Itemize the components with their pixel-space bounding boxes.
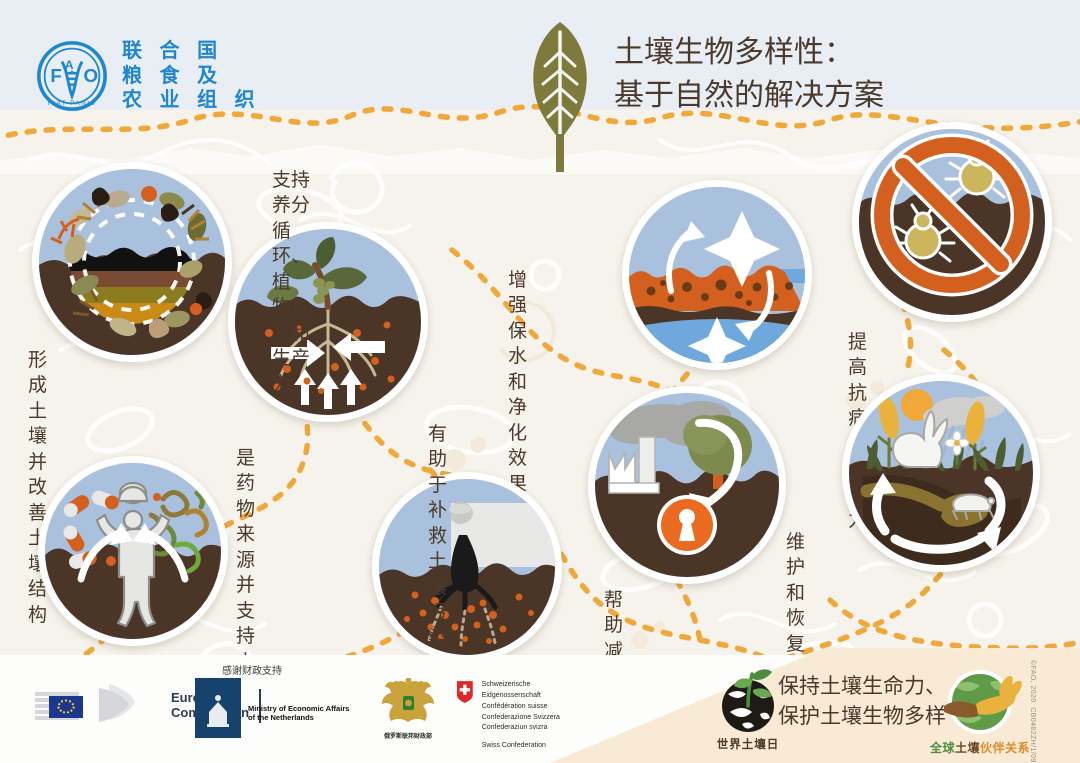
ch-sub: Swiss Confederation — [482, 741, 590, 752]
page-title: 土壤生物多样性： 基于自然的解决方案 — [614, 32, 1034, 117]
medicine-human-health-icon — [45, 463, 221, 639]
gsp-handshake-globe-icon — [936, 664, 1024, 740]
fao-logo: F O A FIAT PANIS 联 合 国 粮 食 及 农 业 组 织 — [36, 34, 266, 118]
donor-russia-ministry-of-finance: 俄罗斯联邦财政部 — [368, 678, 448, 740]
seedling-roots-icon — [235, 229, 421, 415]
svg-text:F: F — [50, 65, 61, 86]
ch-line-4: Confederaziun svizra — [482, 723, 590, 734]
gsp-part-2: 土壤 — [955, 741, 980, 755]
fao-wheat-logo-icon: F O A FIAT PANIS — [36, 40, 108, 112]
ch-line-1: Schweizerische Eidgenossenschaft — [482, 680, 590, 702]
ch-line-2: Confédération suisse — [482, 702, 590, 713]
soil-profile-layers-icon — [39, 169, 225, 355]
global-soil-partnership-logo: 全球土壤伙伴关系 — [934, 664, 1026, 758]
caption-pollution-remediation: 有助于补救 土壤污染 — [428, 422, 447, 651]
russia-double-eagle-icon — [378, 678, 438, 726]
gsp-label: 全球土壤伙伴关系 — [928, 739, 1032, 756]
pollution-remediation-icon — [379, 479, 555, 655]
infographic-poster: F O A FIAT PANIS 联 合 国 粮 食 及 农 业 组 织 土壤生… — [0, 0, 1080, 763]
svg-text:FIAT PANIS: FIAT PANIS — [48, 100, 97, 107]
donor-swiss-confederation: Schweizerische Eidgenossenschaft Confédé… — [454, 680, 590, 752]
campaign-slogan: 保持土壤生命力、 保护土壤生物多样 — [778, 672, 946, 732]
ecosystem-cycle-icon — [849, 381, 1033, 565]
fao-org-name: 联 合 国 粮 食 及 农 业 组 织 — [122, 40, 261, 111]
fao-name-line-3: 农 业 组 织 — [122, 89, 261, 111]
title-line-2: 基于自然的解决方案 — [614, 75, 1034, 118]
donor-netherlands-ministry: Ministry of Economic Affairs of the Neth… — [195, 678, 358, 738]
swiss-confederation-label: Schweizerische Eidgenossenschaft Confédé… — [482, 680, 590, 752]
fao-name-line-1: 联 合 国 — [122, 40, 261, 62]
publication-code: ©FAO, 2020 CB0482ZH/1/09.20 — [1029, 660, 1036, 740]
fao-name-line-2: 粮 食 及 — [122, 65, 261, 87]
title-line-1: 土壤生物多样性： — [614, 32, 1034, 75]
caption-nutrient-cycling: 支持养分循环、植 物生长和生产力 — [272, 168, 310, 397]
donor-logos-row: European Commission Ministry of Economic… — [30, 678, 590, 738]
netherlands-crest-icon — [195, 678, 241, 738]
european-commission-flag-icon — [35, 682, 165, 730]
swiss-cross-icon — [454, 680, 476, 704]
water-filtration-icon — [629, 187, 805, 363]
netherlands-ministry-label: Ministry of Economic Affairs of the Neth… — [248, 678, 358, 723]
caption-water-retention: 增强保水和 净化效果 — [508, 268, 527, 497]
gsp-part-1: 全球 — [930, 741, 955, 755]
world-soil-day-label: 世界土壤日 — [706, 736, 790, 752]
leaf-sprout-icon — [520, 22, 600, 172]
ch-line-3: Confederazione Svizzera — [482, 713, 590, 724]
svg-text:O: O — [84, 65, 99, 86]
gsp-part-3: 伙伴关系 — [980, 741, 1030, 755]
carbon-lock-factory-icon — [595, 393, 779, 577]
russia-ministry-label: 俄罗斯联邦财政部 — [368, 731, 448, 740]
no-pests-prohibition-icon — [859, 129, 1045, 315]
funding-thanks-label: 感谢财政支持 — [222, 662, 282, 677]
